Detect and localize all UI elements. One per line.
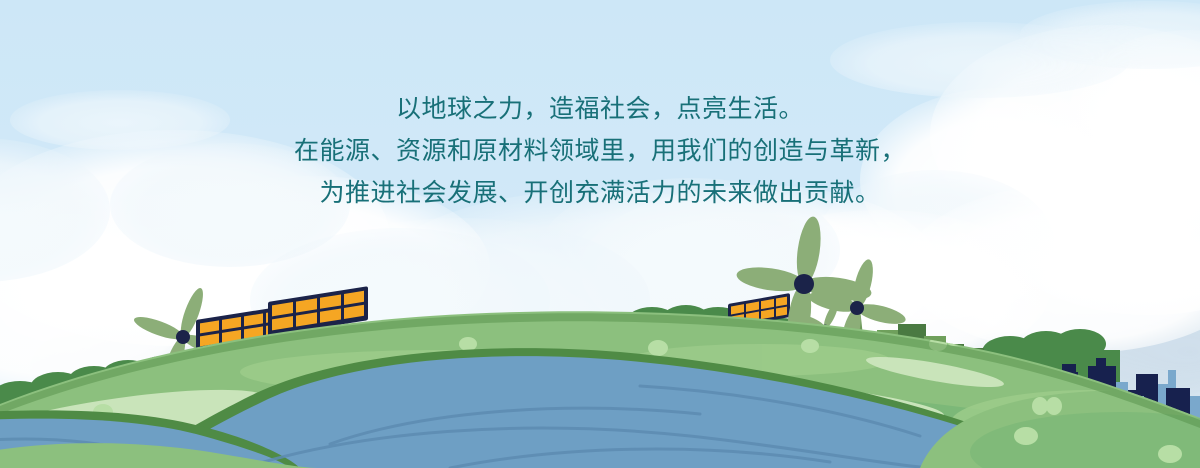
illustration-scene	[0, 0, 1200, 468]
turbine-hub	[176, 330, 190, 344]
turbine-hub	[850, 301, 864, 315]
turbine-hub	[794, 274, 814, 294]
eco-earth-banner: 以地球之力，造福社会，点亮生活。 在能源、资源和原材料领域里，用我们的创造与革新…	[0, 0, 1200, 468]
